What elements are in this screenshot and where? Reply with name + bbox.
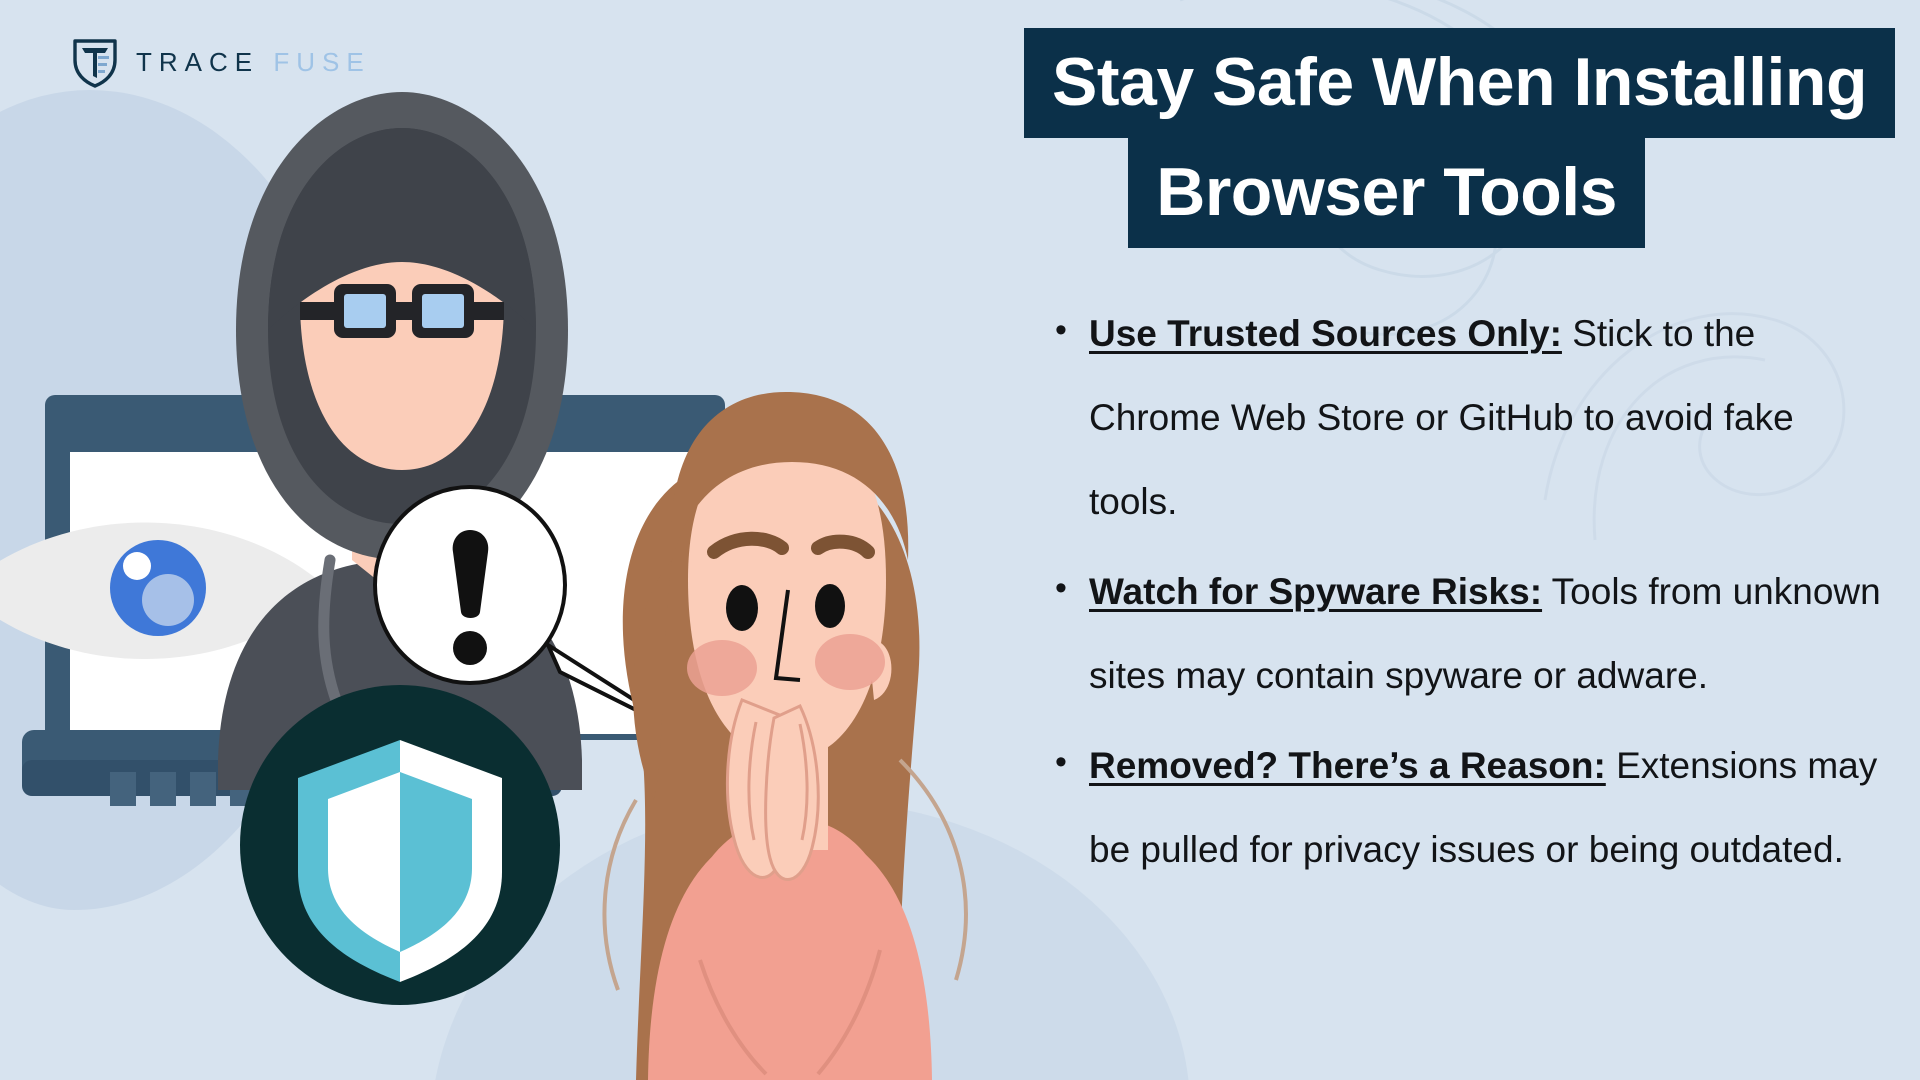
- brand-logo-text: TRACE FUSE: [136, 47, 371, 78]
- list-item-lead: Removed? There’s a Reason:: [1089, 745, 1606, 786]
- brand-logo[interactable]: TRACE FUSE: [72, 36, 371, 88]
- brand-name-primary: TRACE: [136, 47, 259, 77]
- list-item: • Use Trusted Sources Only: Stick to the…: [1055, 292, 1890, 544]
- list-item: • Watch for Spyware Risks: Tools from un…: [1055, 550, 1890, 718]
- list-item-body: Watch for Spyware Risks: Tools from unkn…: [1089, 550, 1890, 718]
- list-item-lead: Use Trusted Sources Only:: [1089, 313, 1562, 354]
- bullet-marker-icon: •: [1055, 550, 1089, 626]
- shield-tf-monogram-icon: [72, 36, 118, 88]
- tips-list: • Use Trusted Sources Only: Stick to the…: [1055, 292, 1890, 898]
- shield-protection-badge-icon: [240, 685, 560, 1005]
- bullet-marker-icon: •: [1055, 724, 1089, 800]
- page-title-line-2: Browser Tools: [1128, 138, 1645, 248]
- brand-name-secondary: FUSE: [273, 47, 370, 77]
- page-title: Stay Safe When Installing Browser Tools: [630, 28, 1895, 248]
- page-title-line-1: Stay Safe When Installing: [1024, 28, 1895, 138]
- list-item-body: Use Trusted Sources Only: Stick to the C…: [1089, 292, 1890, 544]
- bullet-marker-icon: •: [1055, 292, 1089, 368]
- infographic-canvas: TRACE FUSE: [0, 0, 1920, 1080]
- list-item-lead: Watch for Spyware Risks:: [1089, 571, 1542, 612]
- list-item: • Removed? There’s a Reason: Extensions …: [1055, 724, 1890, 892]
- list-item-body: Removed? There’s a Reason: Extensions ma…: [1089, 724, 1890, 892]
